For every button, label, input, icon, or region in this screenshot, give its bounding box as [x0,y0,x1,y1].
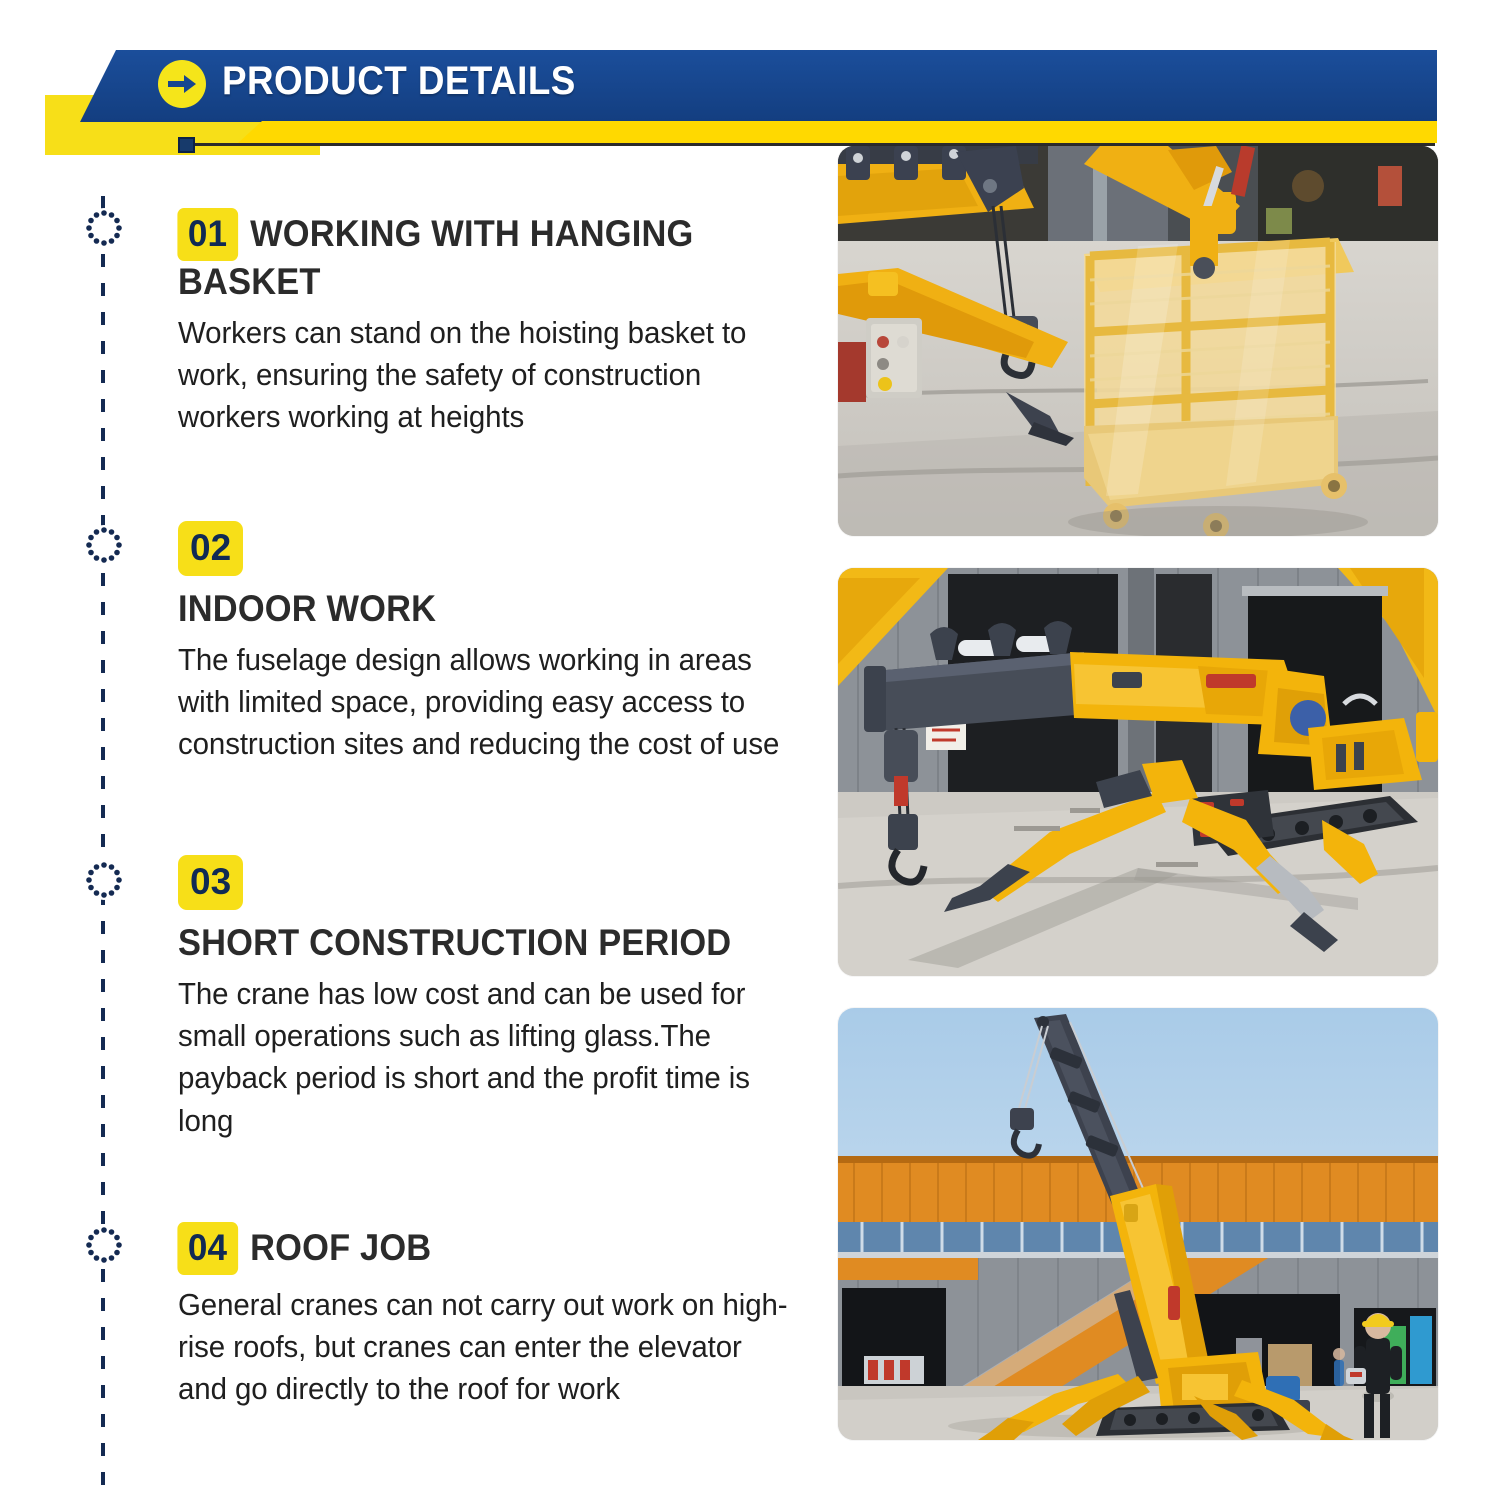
section-02-body: The fuselage design allows working in ar… [178,639,796,765]
photo-hanging-basket [838,146,1438,536]
section-01-number: 01 [177,208,237,261]
section-03-number-wrap: 03 [178,855,828,910]
section-02-title: INDOOR WORK [178,588,783,630]
section-04-number: 04 [177,1222,237,1275]
section-03-title: SHORT CONSTRUCTION PERIOD [178,922,783,964]
photo-spider-crane-roof [838,1008,1438,1440]
section-04: 04ROOF JOB General cranes can not carry … [178,1222,828,1410]
section-04-title: ROOF JOB [250,1227,431,1268]
section-03: 03 SHORT CONSTRUCTION PERIOD The crane h… [178,855,828,1142]
section-03-body: The crane has low cost and can be used f… [178,973,796,1142]
section-02: 02 INDOOR WORK The fuselage design allow… [178,521,828,766]
section-04-heading: 04ROOF JOB [178,1222,783,1275]
section-01-body: Workers can stand on the hoisting basket… [178,312,796,438]
section-01-heading: 01WORKING WITH HANGING BASKET [178,208,783,303]
section-04-body: General cranes can not carry out work on… [178,1284,796,1410]
section-02-number: 02 [178,521,243,576]
section-01-title: WORKING WITH HANGING BASKET [178,213,693,302]
section-02-number-wrap: 02 [178,521,828,576]
product-details-page: PRODUCT DETAILS [0,0,1500,1500]
photo-spider-crane-indoor [838,568,1438,976]
section-01: 01WORKING WITH HANGING BASKET Workers ca… [178,208,828,439]
section-03-number: 03 [178,855,243,910]
